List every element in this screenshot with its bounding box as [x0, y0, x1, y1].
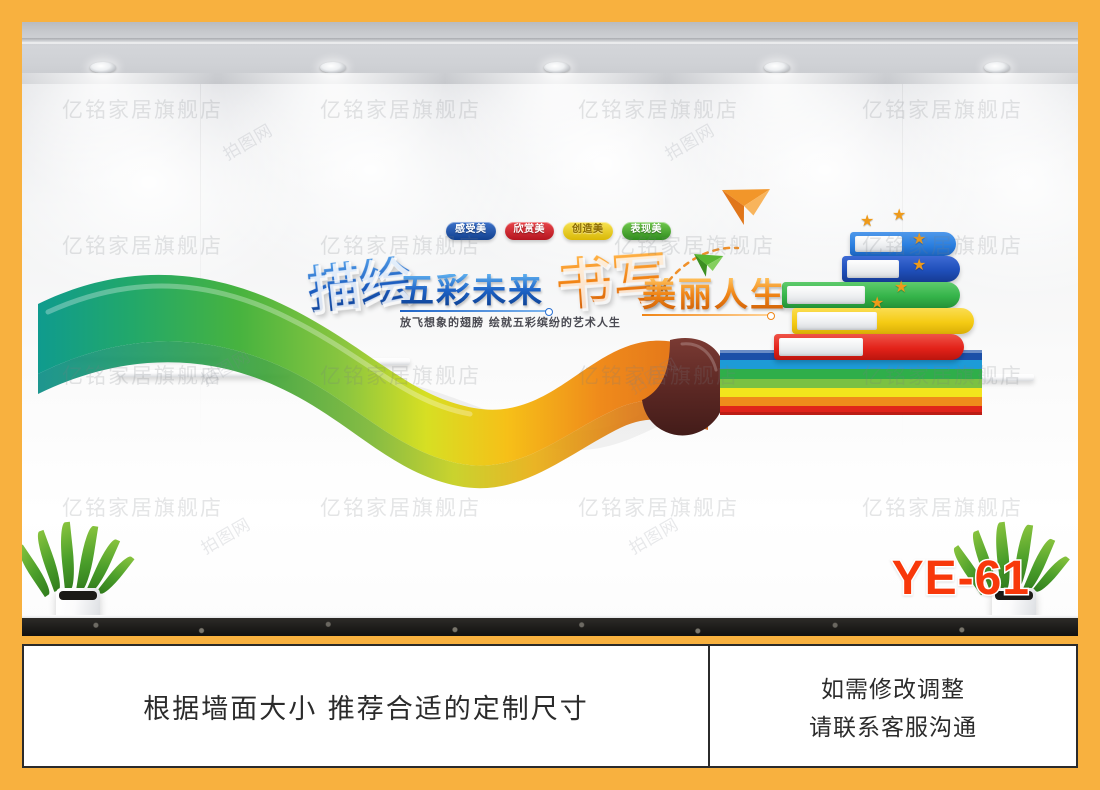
- watermark: 亿铭家居旗舰店: [578, 94, 739, 124]
- blue-title-rule: [400, 310, 548, 312]
- room-scene: ★ ★ ★ ★ ★ ★ 感受美 欣赏美 创造美 表现美 描绘 五彩未来 放飞想象…: [22, 22, 1078, 636]
- book-red: [774, 334, 964, 360]
- book-pages: [847, 260, 899, 278]
- downlight-4: [764, 62, 790, 73]
- watermark-logo: 拍图网: [217, 116, 276, 165]
- caption-left-text: 根据墙面大小 推荐合适的定制尺寸: [143, 687, 589, 726]
- plane-orange-icon: [722, 176, 778, 228]
- ceiling: [22, 22, 1078, 84]
- watermark: 亿铭家居旗舰店: [62, 492, 223, 522]
- blue-title-text: 五彩未来: [400, 274, 544, 308]
- watermark-logo: 拍图网: [623, 350, 682, 399]
- product-code-label: YE-61: [892, 551, 1030, 606]
- badge-group: 感受美 欣赏美 创造美 表现美: [446, 222, 671, 240]
- badge-2: 欣赏美: [505, 222, 555, 240]
- watermark-logo: 拍图网: [195, 342, 254, 391]
- caption-panel-left: 根据墙面大小 推荐合适的定制尺寸: [24, 646, 710, 766]
- watermark: 亿铭家居旗舰店: [320, 94, 481, 124]
- book-pages: [787, 286, 865, 304]
- downlight-1: [90, 62, 116, 73]
- downlight-2: [320, 62, 346, 73]
- watermark: 亿铭家居旗舰店: [862, 492, 1023, 522]
- watermark: 亿铭家居旗舰店: [578, 360, 739, 390]
- plane-green-icon: [694, 247, 727, 278]
- caption-bar: 根据墙面大小 推荐合适的定制尺寸 如需修改调整 请联系客服沟通: [22, 644, 1078, 768]
- ceiling-molding-highlight: [22, 42, 1078, 44]
- leaf: [58, 522, 77, 591]
- caption-panel-right: 如需修改调整 请联系客服沟通: [710, 646, 1076, 766]
- badge-1: 感受美: [446, 222, 496, 240]
- orange-title-rule: [642, 314, 770, 316]
- wall-seam-left: [200, 84, 201, 604]
- book-pages: [797, 312, 877, 330]
- watermark-logo: 拍图网: [659, 116, 718, 165]
- badge-4: 表现美: [622, 222, 672, 240]
- watermark: 亿铭家居旗舰店: [578, 492, 739, 522]
- watermark: 亿铭家居旗舰店: [62, 94, 223, 124]
- shelf-strip-left-2: [118, 370, 290, 377]
- light-cone-1: [22, 73, 253, 303]
- shelf-strip-mid: [290, 358, 410, 365]
- page-root: ★ ★ ★ ★ ★ ★ 感受美 欣赏美 创造美 表现美 描绘 五彩未来 放飞想象…: [0, 0, 1100, 790]
- book-pages: [779, 338, 863, 356]
- badge-3: 创造美: [563, 222, 613, 240]
- book-blue-top: [850, 232, 956, 256]
- watermark-logo: 拍图网: [623, 510, 682, 559]
- caption-right-line1: 如需修改调整: [821, 670, 965, 704]
- downlight-3: [544, 62, 570, 73]
- shelf-strip-right-2: [850, 374, 1034, 381]
- baseboard: [22, 618, 1078, 636]
- book-pages: [855, 236, 902, 252]
- shelf-strip-left-1: [62, 352, 220, 359]
- blue-script-text: 描绘: [306, 255, 415, 318]
- downlight-5: [984, 62, 1010, 73]
- watermark: 亿铭家居旗舰店: [62, 230, 223, 260]
- watermark: 亿铭家居旗舰店: [320, 492, 481, 522]
- watermark-logo: 拍图网: [195, 510, 254, 559]
- watermark: 亿铭家居旗舰店: [862, 94, 1023, 124]
- orange-title-text: 美丽人生: [642, 278, 786, 312]
- caption-right-line2: 请联系客服沟通: [809, 708, 977, 742]
